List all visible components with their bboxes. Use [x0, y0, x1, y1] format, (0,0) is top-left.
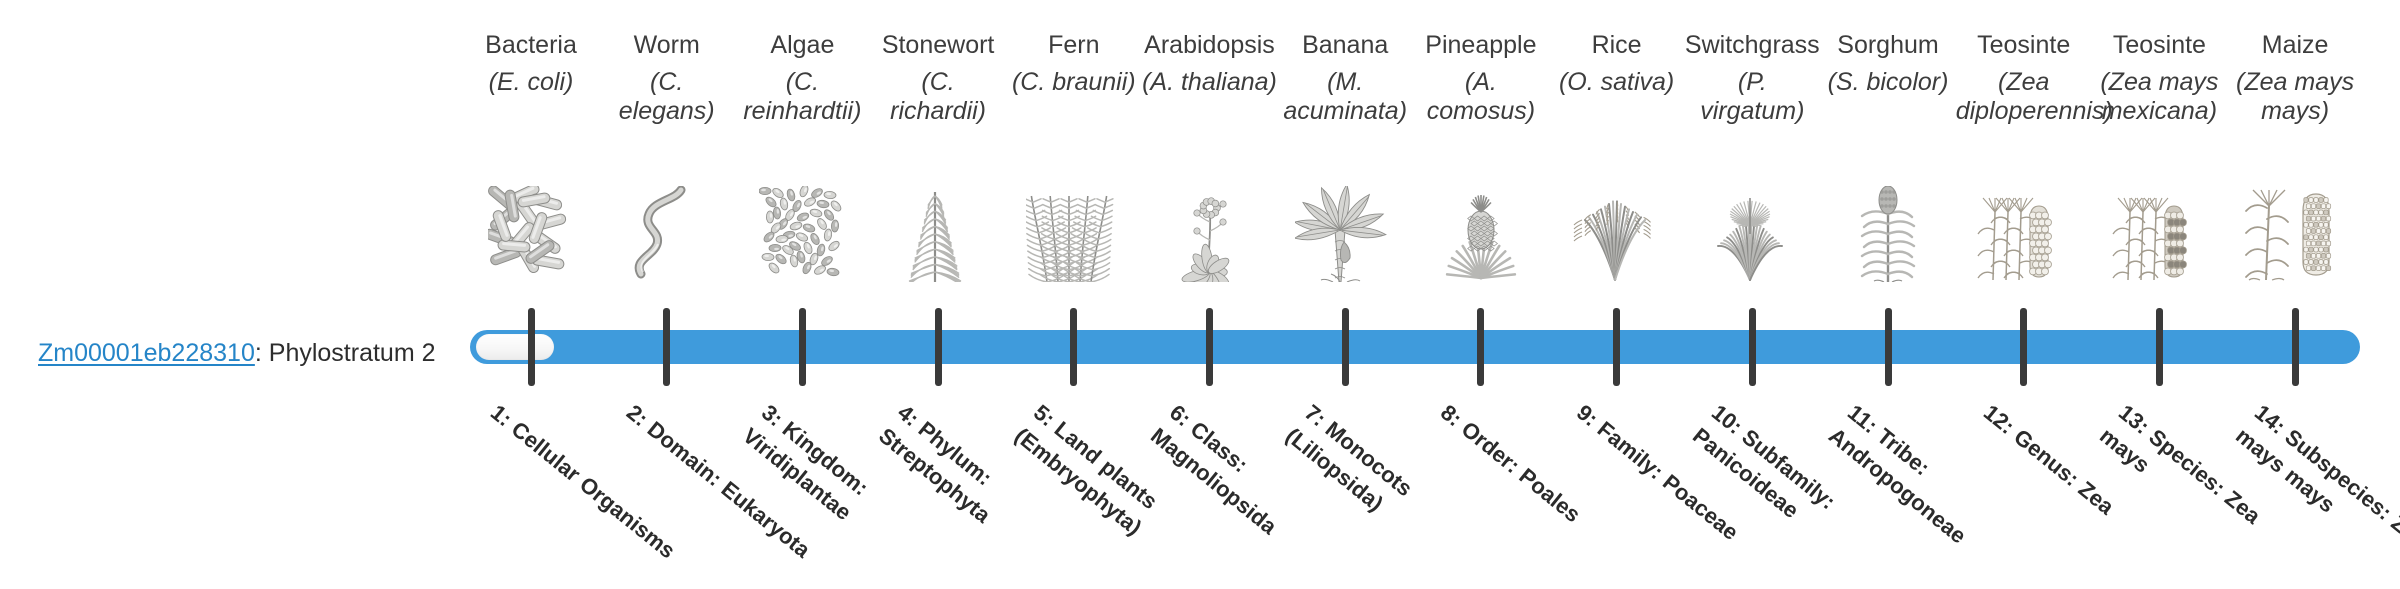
maize-plant-and-ear-illustration	[2227, 182, 2363, 282]
phylostratum-tick-9[interactable]	[1613, 308, 1620, 386]
rank-number: 8:	[1436, 400, 1467, 432]
teosinte-plant-and-ear-illustration	[1956, 182, 2092, 282]
bacteria-rods-illustration	[463, 182, 599, 282]
phylostratum-tick-13[interactable]	[2156, 308, 2163, 386]
phylostratum-tick-11[interactable]	[1885, 308, 1892, 386]
gene-label-separator: :	[255, 339, 269, 367]
species-column-stonewort-3: Stonewort(C. richardii)	[870, 30, 1006, 126]
phylostratum-tick-8[interactable]	[1477, 308, 1484, 386]
fern-frond-illustration	[1006, 182, 1142, 282]
species-latin-name: (C. elegans)	[599, 68, 735, 126]
phylostratum-tick-1[interactable]	[528, 308, 535, 386]
algae-cells-illustration	[734, 182, 870, 282]
nematode-worm-illustration	[599, 182, 735, 282]
phylostratum-tick-10[interactable]	[1749, 308, 1756, 386]
species-latin-name: (C. reinhardtii)	[734, 68, 870, 126]
rank-number: 5:	[1029, 400, 1060, 432]
rank-number: 6:	[1165, 400, 1196, 432]
species-latin-name: (S. bicolor)	[1820, 68, 1956, 97]
sorghum-plant-illustration	[1820, 182, 1956, 282]
banana-plant-illustration	[1277, 182, 1413, 282]
species-column-maize-13: Maize(Zea mays mays)	[2227, 30, 2363, 126]
species-latin-name: (M. acuminata)	[1277, 68, 1413, 126]
rice-grass-illustration	[1549, 182, 1685, 282]
phylostratum-tick-3[interactable]	[799, 308, 806, 386]
species-common-name: Switchgrass	[1684, 30, 1820, 60]
species-column-worm-1: Worm(C. elegans)	[599, 30, 735, 126]
species-latin-name: (A. thaliana)	[1142, 68, 1278, 97]
rank-number: 4:	[893, 400, 924, 432]
species-latin-name: (Zea mays mays)	[2227, 68, 2363, 126]
pineapple-plant-illustration	[1413, 182, 1549, 282]
phylostratum-tick-2[interactable]	[663, 308, 670, 386]
species-column-algae-2: Algae(C. reinhardtii)	[734, 30, 870, 126]
species-latin-name: (O. sativa)	[1549, 68, 1685, 97]
phylostratum-tick-7[interactable]	[1342, 308, 1349, 386]
species-latin-name: (Zea diploperennis)	[1956, 68, 2092, 126]
species-latin-name: (E. coli)	[463, 68, 599, 97]
rank-number: 1:	[486, 400, 517, 432]
species-common-name: Rice	[1549, 30, 1685, 60]
species-column-teosinte-12: Teosinte(Zea mays mexicana)	[2091, 30, 2227, 126]
phylostratum-tick-5[interactable]	[1070, 308, 1077, 386]
phylostratum-unfilled-segment	[476, 334, 554, 360]
species-common-name: Teosinte	[2091, 30, 2227, 60]
species-common-name: Fern	[1006, 30, 1142, 60]
gene-phylostratum-label: Zm00001eb228310: Phylostratum 2	[38, 338, 436, 368]
rank-name: Order: Poales	[1457, 416, 1586, 527]
switchgrass-illustration	[1684, 182, 1820, 282]
species-common-name: Stonewort	[870, 30, 1006, 60]
species-common-name: Maize	[2227, 30, 2363, 60]
phylostratum-tick-12[interactable]	[2020, 308, 2027, 386]
stonewort-illustration	[870, 182, 1006, 282]
teosinte-mexicana-plant-and-ear-illustration	[2091, 182, 2227, 282]
species-column-sorghum-10: Sorghum(S. bicolor)	[1820, 30, 1956, 97]
species-column-fern-4: Fern(C. braunii)	[1006, 30, 1142, 97]
phylostratum-tick-4[interactable]	[935, 308, 942, 386]
species-latin-name: (C. braunii)	[1006, 68, 1142, 97]
species-latin-name: (A. comosus)	[1413, 68, 1549, 126]
phylostratum-tick-14[interactable]	[2292, 308, 2299, 386]
phylostratum-tick-6[interactable]	[1206, 308, 1213, 386]
species-column-bacteria-0: Bacteria(E. coli)	[463, 30, 599, 97]
rank-number: 2:	[622, 400, 653, 432]
species-column-arabidopsis-5: Arabidopsis(A. thaliana)	[1142, 30, 1278, 97]
species-column-pineapple-7: Pineapple(A. comosus)	[1413, 30, 1549, 126]
species-common-name: Arabidopsis	[1142, 30, 1278, 60]
rank-number: 12:	[1979, 400, 2019, 439]
gene-accession-link[interactable]: Zm00001eb228310	[38, 339, 255, 367]
species-column-switchgrass-9: Switchgrass(P. virgatum)	[1684, 30, 1820, 126]
species-common-name: Pineapple	[1413, 30, 1549, 60]
rank-number: 9:	[1572, 400, 1603, 432]
species-common-name: Worm	[599, 30, 735, 60]
phylostratum-progress-bar[interactable]	[470, 330, 2360, 364]
species-common-name: Sorghum	[1820, 30, 1956, 60]
species-column-teosinte-11: Teosinte(Zea diploperennis)	[1956, 30, 2092, 126]
species-latin-name: (Zea mays mexicana)	[2091, 68, 2227, 126]
species-column-banana-6: Banana(M. acuminata)	[1277, 30, 1413, 126]
species-latin-name: (P. virgatum)	[1684, 68, 1820, 126]
species-latin-name: (C. richardii)	[870, 68, 1006, 126]
species-common-name: Banana	[1277, 30, 1413, 60]
species-common-name: Teosinte	[1956, 30, 2092, 60]
arabidopsis-rosette-illustration	[1142, 182, 1278, 282]
gene-phylostratum-value: Phylostratum 2	[269, 339, 436, 367]
phylostratigraphy-timeline-figure: Zm00001eb228310: Phylostratum 2 Bacteria…	[0, 0, 2400, 580]
species-common-name: Bacteria	[463, 30, 599, 60]
species-column-rice-8: Rice(O. sativa)	[1549, 30, 1685, 97]
species-common-name: Algae	[734, 30, 870, 60]
